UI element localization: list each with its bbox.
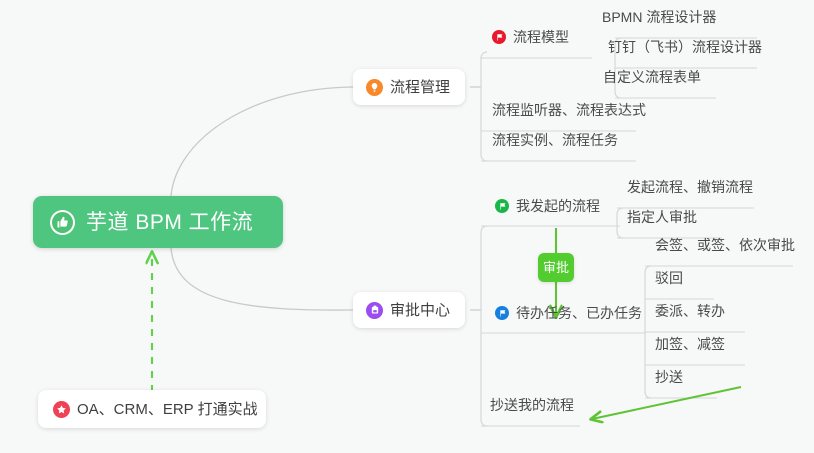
leaf-flow-instance[interactable]: 流程实例、流程任务 [492,133,618,151]
branch-flow-management-label: 流程管理 [390,80,450,95]
mindmap-canvas: 芋道 BPM 工作流 OA、CRM、ERP 打通实战 流程管理 流程模型 [0,0,814,453]
star-icon [53,401,70,418]
branch-flow-management[interactable]: 流程管理 [353,69,465,105]
flag-icon [495,306,509,320]
leaf-cc-to-me[interactable]: 抄送我的流程 [490,398,574,416]
leaf-start-cancel[interactable]: 发起流程、撤销流程 [627,180,753,198]
leaf-assign-approve[interactable]: 指定人审批 [627,210,697,228]
edge-root-to-flow [171,87,353,196]
leaf-my-started-label: 我发起的流程 [516,199,600,213]
root-label: 芋道 BPM 工作流 [86,212,253,233]
approve-badge: 审批 [538,253,574,282]
arrow-cc-to-ccme [592,387,741,419]
bracket-flow [481,52,487,161]
leaf-start-cancel-label: 发起流程、撤销流程 [627,180,753,194]
leaf-flow-listener-label: 流程监听器、流程表达式 [492,103,646,117]
bracket-approval [481,226,487,426]
leaf-flow-model[interactable]: 流程模型 [490,30,569,48]
thumbs-up-icon [50,210,75,235]
leaf-countersign-label: 会签、或签、依次审批 [655,238,795,252]
leaf-countersign[interactable]: 会签、或签、依次审批 [655,238,795,256]
leaf-cc-label: 抄送 [655,370,683,384]
flag-icon [492,30,506,44]
flag-icon [495,199,509,213]
bracket-my-started [617,208,623,238]
branch-approval-center-label: 审批中心 [390,303,450,318]
edge-root-to-approval [171,248,353,310]
leaf-my-started[interactable]: 我发起的流程 [493,199,600,217]
approve-badge-label: 审批 [543,261,569,274]
leaf-reject-label: 驳回 [655,271,683,285]
leaf-flow-instance-label: 流程实例、流程任务 [492,133,618,147]
bracket-todo [645,266,651,398]
leaf-flow-model-label: 流程模型 [513,30,569,44]
leaf-cc-to-me-label: 抄送我的流程 [490,398,574,412]
leaf-bpmn-designer-label: BPMN 流程设计器 [602,10,716,24]
leaf-addsign[interactable]: 加签、减签 [655,337,725,355]
leaf-dingtalk-designer[interactable]: 钉钉（飞书）流程设计器 [608,40,762,58]
leaf-bpmn-designer[interactable]: BPMN 流程设计器 [602,10,716,28]
root-node[interactable]: 芋道 BPM 工作流 [33,196,283,248]
leaf-assign-approve-label: 指定人审批 [627,210,697,224]
leaf-todo-done-label: 待办任务、已办任务 [516,306,642,320]
leaf-todo-done[interactable]: 待办任务、已办任务 [493,306,642,324]
leaf-delegate[interactable]: 委派、转办 [655,304,725,322]
clipboard-icon [366,302,383,319]
branch-approval-center[interactable]: 审批中心 [353,292,465,328]
leaf-reject[interactable]: 驳回 [655,271,683,289]
leaf-delegate-label: 委派、转办 [655,304,725,318]
leaf-custom-form-label: 自定义流程表单 [603,70,701,84]
leaf-flow-listener[interactable]: 流程监听器、流程表达式 [492,103,646,121]
lightbulb-icon [366,79,383,96]
leaf-dingtalk-designer-label: 钉钉（飞书）流程设计器 [608,40,762,54]
leaf-cc[interactable]: 抄送 [655,370,683,388]
bottom-note-node[interactable]: OA、CRM、ERP 打通实战 [38,390,266,428]
leaf-custom-form[interactable]: 自定义流程表单 [603,70,701,88]
bottom-note-label: OA、CRM、ERP 打通实战 [77,402,258,417]
leaf-addsign-label: 加签、减签 [655,337,725,351]
